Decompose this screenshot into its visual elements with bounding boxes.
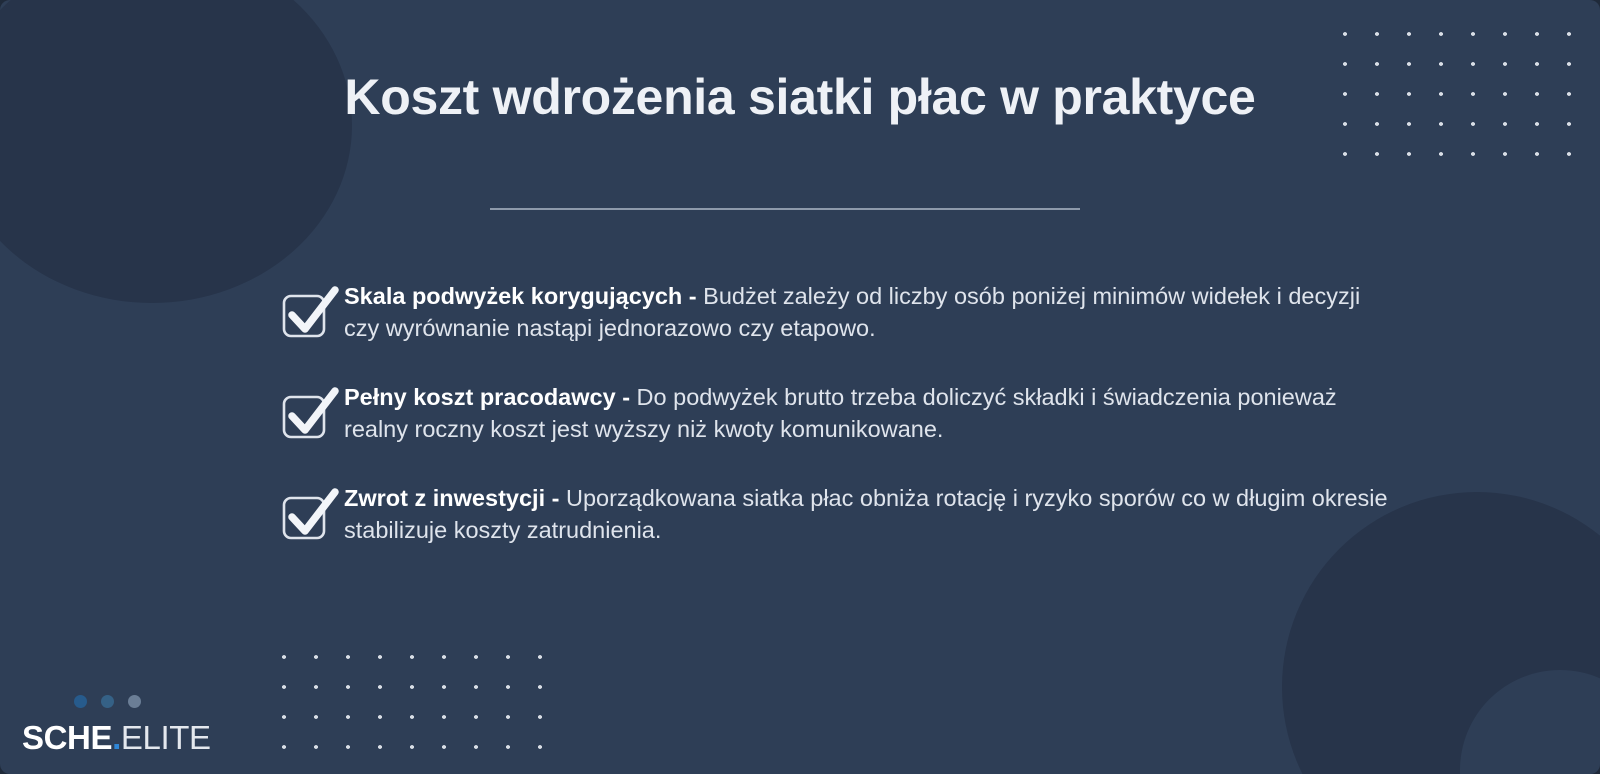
checkbox-checked-icon [278, 379, 344, 445]
logo-dot-2-icon [101, 695, 114, 708]
list-item: Skala podwyżek korygujących - Budżet zal… [278, 278, 1388, 345]
list-item: Pełny koszt pracodawcy - Do podwyżek bru… [278, 379, 1388, 446]
decorative-ring-bottom-right-hole [1460, 670, 1600, 774]
checkbox-checked-icon [278, 278, 344, 344]
title-divider [490, 208, 1080, 210]
page-title: Koszt wdrożenia siatki płac w praktyce [0, 68, 1600, 127]
list-item-text: Pełny koszt pracodawcy - Do podwyżek bru… [344, 379, 1388, 446]
list-item-lead: Zwrot z inwestycji - [344, 485, 559, 511]
brand-logo: SCHE.ELITE [22, 695, 211, 754]
logo-dot-separator: . [112, 719, 121, 756]
list-item-lead: Pełny koszt pracodawcy - [344, 384, 630, 410]
logo-wordmark: SCHE.ELITE [22, 721, 211, 754]
bullet-list: Skala podwyżek korygujących - Budżet zal… [278, 278, 1388, 547]
list-item-text: Skala podwyżek korygujących - Budżet zal… [344, 278, 1388, 345]
dot-grid-bottom-left [264, 636, 564, 756]
slide-canvas: Koszt wdrożenia siatki płac w praktyce S… [0, 0, 1600, 774]
list-item-text: Zwrot z inwestycji - Uporządkowana siatk… [344, 480, 1388, 547]
logo-light-text: ELITE [121, 719, 211, 756]
list-item: Zwrot z inwestycji - Uporządkowana siatk… [278, 480, 1388, 547]
checkbox-checked-icon [278, 480, 344, 546]
logo-strong-text: SCHE [22, 719, 112, 756]
logo-dots [74, 695, 211, 708]
list-item-lead: Skala podwyżek korygujących - [344, 283, 697, 309]
logo-dot-3-icon [128, 695, 141, 708]
logo-dot-1-icon [74, 695, 87, 708]
decorative-circle-top-left [0, 0, 352, 303]
